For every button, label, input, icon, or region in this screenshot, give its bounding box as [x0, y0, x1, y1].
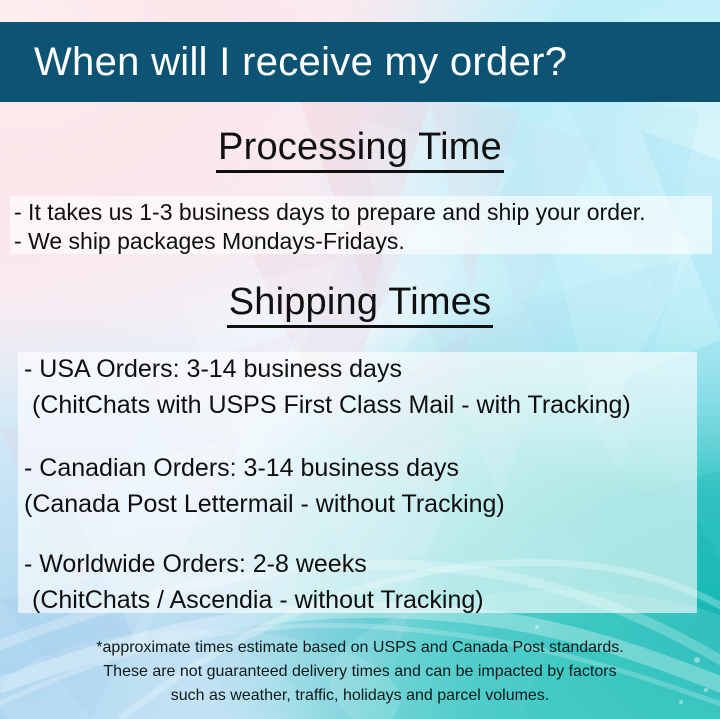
shipping-entry-usa-subtitle: (ChitChats with USPS First Class Mail - … — [24, 387, 631, 423]
shipping-entry-usa-title: - USA Orders: 3-14 business days — [24, 351, 631, 387]
shipping-entry-canada: - Canadian Orders: 3-14 business days (C… — [24, 450, 505, 522]
disclaimer-line-3: such as weather, traffic, holidays and p… — [0, 684, 720, 708]
shipping-times-heading-text: Shipping Times — [227, 281, 494, 328]
header-banner: When will I receive my order? — [0, 22, 720, 102]
page-title: When will I receive my order? — [34, 40, 567, 85]
disclaimer-footnote: *approximate times estimate based on USP… — [0, 636, 720, 708]
shipping-entry-canada-subtitle: (Canada Post Lettermail - without Tracki… — [24, 486, 505, 522]
processing-line-2: - We ship packages Mondays-Fridays. — [14, 228, 405, 255]
shipping-entry-usa: - USA Orders: 3-14 business days (ChitCh… — [24, 351, 631, 423]
processing-line-1: - It takes us 1-3 business days to prepa… — [14, 199, 646, 226]
shipping-entry-worldwide-title: - Worldwide Orders: 2-8 weeks — [24, 546, 484, 582]
poster-content: Processing Time - It takes us 1-3 busine… — [0, 0, 720, 719]
processing-time-heading-text: Processing Time — [216, 126, 504, 173]
shipping-times-heading: Shipping Times — [0, 281, 720, 324]
shipping-entry-worldwide-subtitle: (ChitChats / Ascendia - without Tracking… — [24, 582, 484, 618]
disclaimer-line-2: These are not guaranteed delivery times … — [0, 660, 720, 684]
shipping-entry-canada-title: - Canadian Orders: 3-14 business days — [24, 450, 505, 486]
processing-time-heading: Processing Time — [0, 126, 720, 169]
shipping-entry-worldwide: - Worldwide Orders: 2-8 weeks (ChitChats… — [24, 546, 484, 618]
faq-poster: When will I receive my order? Processing… — [0, 0, 720, 719]
disclaimer-line-1: *approximate times estimate based on USP… — [0, 636, 720, 660]
